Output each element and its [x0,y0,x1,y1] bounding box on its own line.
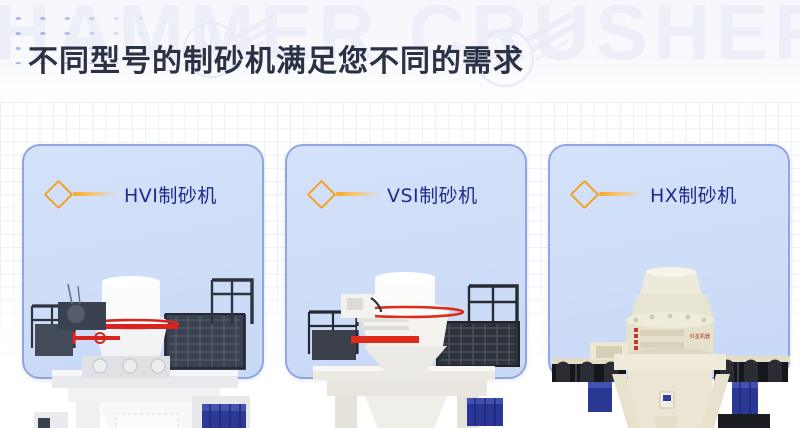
diamond-icon [311,179,385,209]
card-header: VSI制砂机 [287,176,525,212]
card-header: HVI制砂机 [24,176,262,212]
machine-image-hvi [16,262,270,428]
diamond-icon [574,179,648,209]
machine-image-vsi [279,260,533,428]
svg-text:红星机器: 红星机器 [690,333,710,340]
product-card-label: VSI制砂机 [387,181,478,208]
banner-body: HVI制砂机 VSI制砂机 HX制砂机 [0,102,800,428]
card-header: HX制砂机 [550,176,788,212]
banner-header: HAMMER CRUSHER [0,0,800,102]
product-card-label: HVI制砂机 [124,181,217,208]
page-title: 不同型号的制砂机满足您不同的需求 [28,36,524,80]
product-card-label: HX制砂机 [650,181,737,208]
diamond-icon [48,179,122,209]
product-card-list: HVI制砂机 VSI制砂机 HX制砂机 [0,102,800,428]
machine-image-hx: 红星机器 [542,254,796,428]
promo-banner: HAMMER CRUSHER [0,0,800,428]
